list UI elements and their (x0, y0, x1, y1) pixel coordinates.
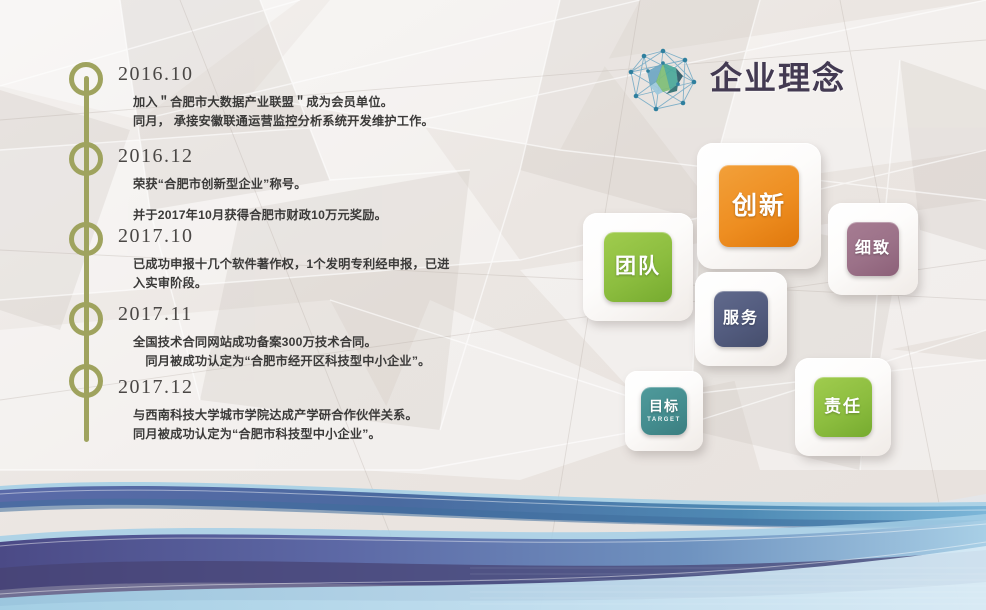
concept-card-label: 目标 (649, 399, 679, 414)
concept-card-inner: 目标 TARGET (641, 387, 687, 435)
concept-card-label: 责任 (824, 398, 862, 416)
concept-card-detail[interactable]: 细致 (828, 203, 918, 295)
concept-card-target[interactable]: 目标 TARGET (625, 371, 703, 451)
concept-card-inner: 细致 (847, 222, 899, 276)
concept-card-sublabel: TARGET (647, 417, 681, 423)
concept-card-label: 团队 (615, 256, 661, 278)
concept-card-label: 创新 (732, 193, 786, 219)
concept-card-inner: 服务 (714, 291, 768, 347)
concept-card-inner: 创新 (719, 165, 799, 247)
bottom-wave-ribbon (0, 450, 986, 610)
concept-card-label: 服务 (723, 311, 759, 328)
concept-card-responsibility[interactable]: 责任 (795, 358, 891, 456)
concept-card-team[interactable]: 团队 (583, 213, 693, 321)
concept-card-label: 细致 (855, 241, 891, 258)
concept-card-inner: 责任 (814, 377, 872, 437)
concept-card-innovation[interactable]: 创新 (697, 143, 821, 269)
concept-card-inner: 团队 (604, 232, 672, 302)
slide-canvas: 2016.10 加入＂合肥市大数据产业联盟＂成为会员单位。 同月， 承接安徽联通… (0, 0, 986, 610)
concept-card-service[interactable]: 服务 (695, 272, 787, 366)
